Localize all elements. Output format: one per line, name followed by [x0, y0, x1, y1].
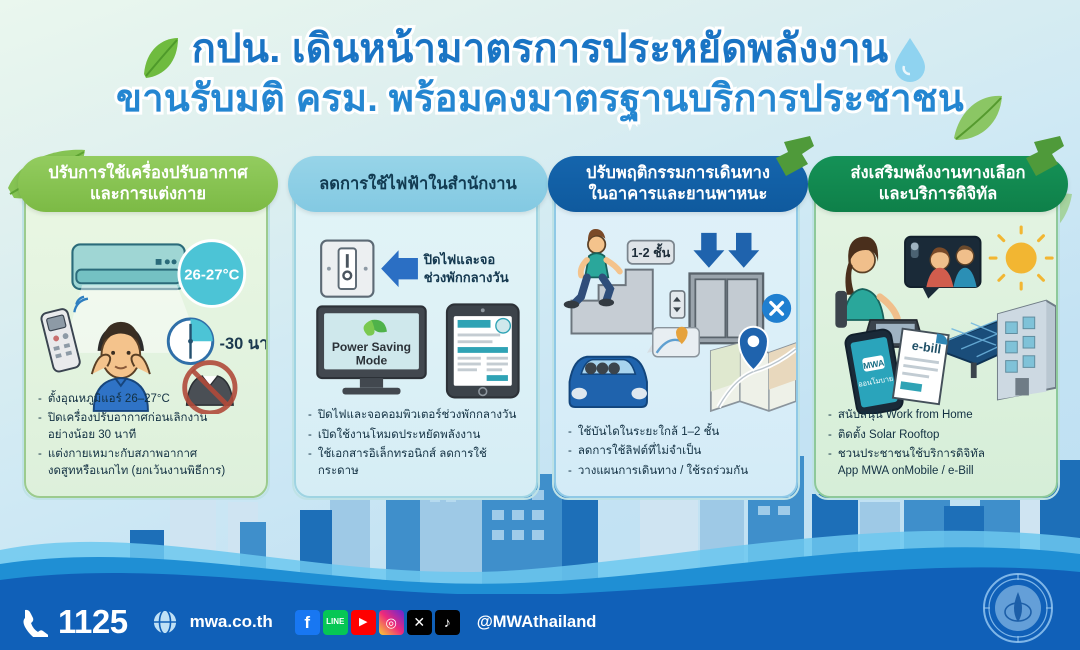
- air-conditioning-illustration: 26-27°C: [26, 224, 266, 414]
- card-heading: ปรับการใช้เครื่องปรับอากาศและการแต่งกาย: [18, 156, 278, 212]
- card-bullets: - สนับสนุน Work from Home - ติดตั้ง Sola…: [828, 407, 1046, 482]
- footer-bar: 1125 mwa.co.th f LINE ▶ ◎ ✕: [0, 594, 1080, 650]
- bullet-dash: -: [308, 407, 312, 424]
- bullet-text: ตั้งอุณหภูมิแอร์ 26–27°C: [48, 391, 256, 408]
- stairs-label-text: 1-2 ชั้น: [631, 243, 670, 260]
- bullet-text: ใช้บันไดในระยะใกล้ 1–2 ชั้น: [578, 424, 786, 441]
- alternative-energy-illustration: MWA ออนโมบาย e-bill: [816, 224, 1056, 414]
- bullet-text: ปิดเครื่องปรับอากาศก่อนเลิกงาน อย่างน้อย…: [48, 410, 256, 443]
- bullet-text: ชวนประชาชนใช้บริการดิจิทัล App MWA onMob…: [838, 446, 1046, 479]
- card-heading: ลดการใช้ไฟฟ้าในสำนักงาน: [288, 156, 548, 212]
- bullet-text: ติดตั้ง Solar Rooftop: [838, 427, 1046, 444]
- leaf-icon: [950, 92, 1006, 144]
- card-air-conditioning: 26-27°C: [22, 170, 270, 500]
- callout-line1: ปิดไฟและจอ: [423, 251, 495, 267]
- card-panel: MWA ออนโมบาย e-bill: [814, 172, 1058, 498]
- tiktok-icon[interactable]: ♪: [435, 610, 460, 635]
- water-drop-icon: [893, 36, 927, 82]
- bullet-dash: -: [568, 463, 572, 480]
- phone-number[interactable]: 1125: [58, 603, 128, 641]
- bullet-item: - ตั้งอุณหภูมิแอร์ 26–27°C: [38, 391, 256, 408]
- x-twitter-icon[interactable]: ✕: [407, 610, 432, 635]
- monitor-label-line1: Power Saving: [332, 340, 411, 354]
- card-heading-text: ปรับพฤติกรรมการเดินทางในอาคารและยานพาหนะ: [586, 163, 770, 205]
- bullet-text: เปิดใช้งานโหมดประหยัดพลังงาน: [318, 427, 526, 444]
- card-bullets: - ปิดไฟและจอคอมพิวเตอร์ช่วงพักกลางวัน - …: [308, 407, 526, 482]
- bullet-item: - ใช้เอกสารอิเล็กทรอนิกส์ ลดการใช้กระดาษ: [308, 446, 526, 479]
- bullet-dash: -: [38, 391, 42, 408]
- bullet-item: - วางแผนการเดินทาง / ใช้รถร่วมกัน: [568, 463, 786, 480]
- card-heading: ปรับพฤติกรรมการเดินทางในอาคารและยานพาหนะ: [548, 156, 808, 212]
- poster-title: กปน. เดินหน้ามาตรการประหยัดพลังงาน ขานรั…: [0, 26, 1080, 122]
- bullet-text: ลดการใช้ลิฟต์ที่ไม่จำเป็น: [578, 443, 786, 460]
- card-office-electricity: ปิดไฟและจอ ช่วงพักกลางวัน Power Saving M…: [292, 170, 540, 500]
- card-heading-text: ลดการใช้ไฟฟ้าในสำนักงาน: [319, 174, 517, 195]
- bullet-item: - ปิดเครื่องปรับอากาศก่อนเลิกงาน อย่างน้…: [38, 410, 256, 443]
- social-icons-group: f LINE ▶ ◎ ✕ ♪: [295, 610, 460, 635]
- travel-behavior-illustration: 1-2 ชั้น: [556, 224, 796, 414]
- bullet-item: - ติดตั้ง Solar Rooftop: [828, 427, 1046, 444]
- callout-line2: ช่วงพักกลางวัน: [424, 270, 509, 285]
- minutes-callout-text: -30 นาที: [220, 334, 266, 353]
- bullet-dash: -: [38, 410, 42, 443]
- instagram-icon[interactable]: ◎: [379, 610, 404, 635]
- globe-icon: [152, 609, 178, 635]
- bullet-item: - ชวนประชาชนใช้บริการดิจิทัล App MWA onM…: [828, 446, 1046, 479]
- card-travel-behavior: 1-2 ชั้น: [552, 170, 800, 500]
- card-panel: ปิดไฟและจอ ช่วงพักกลางวัน Power Saving M…: [294, 172, 538, 498]
- card-panel: 1-2 ชั้น: [554, 172, 798, 498]
- facebook-icon[interactable]: f: [295, 610, 320, 635]
- office-electricity-illustration: ปิดไฟและจอ ช่วงพักกลางวัน Power Saving M…: [296, 224, 536, 414]
- card-panel: 26-27°C: [24, 172, 268, 498]
- bullet-text: แต่งกายเหมาะกับสภาพอากาศ งดสูทหรือเนกไท …: [48, 446, 256, 479]
- water-wave-graphic: [0, 498, 1080, 608]
- infographic-poster: กปน. เดินหน้ามาตรการประหยัดพลังงาน ขานรั…: [0, 0, 1080, 650]
- mwa-seal-logo: [982, 572, 1054, 644]
- bullet-dash: -: [828, 407, 832, 424]
- bullet-text: ปิดไฟและจอคอมพิวเตอร์ช่วงพักกลางวัน: [318, 407, 526, 424]
- green-arrow-icon: [772, 134, 816, 180]
- bullet-item: - สนับสนุน Work from Home: [828, 407, 1046, 424]
- bullet-text: วางแผนการเดินทาง / ใช้รถร่วมกัน: [578, 463, 786, 480]
- website-link[interactable]: mwa.co.th: [190, 612, 273, 632]
- youtube-icon[interactable]: ▶: [351, 610, 376, 635]
- bullet-dash: -: [568, 424, 572, 441]
- monitor-label-line2: Mode: [356, 353, 388, 367]
- bullet-item: - ปิดไฟและจอคอมพิวเตอร์ช่วงพักกลางวัน: [308, 407, 526, 424]
- card-bullets: - ใช้บันไดในระยะใกล้ 1–2 ชั้น - ลดการใช้…: [568, 424, 786, 483]
- bullet-text: สนับสนุน Work from Home: [838, 407, 1046, 424]
- card-alternative-energy: MWA ออนโมบาย e-bill: [812, 170, 1060, 500]
- bullet-item: - เปิดใช้งานโหมดประหยัดพลังงาน: [308, 427, 526, 444]
- card-bullets: - ตั้งอุณหภูมิแอร์ 26–27°C - ปิดเครื่องป…: [38, 391, 256, 483]
- temperature-badge-text: 26-27°C: [184, 266, 239, 283]
- line-icon[interactable]: LINE: [323, 610, 348, 635]
- card-heading-text: ปรับการใช้เครื่องปรับอากาศและการแต่งกาย: [48, 163, 247, 205]
- leaf-icon: [138, 34, 182, 82]
- bullet-dash: -: [568, 443, 572, 460]
- bullet-item: - ลดการใช้ลิฟต์ที่ไม่จำเป็น: [568, 443, 786, 460]
- phone-icon: [18, 607, 48, 637]
- bullet-dash: -: [308, 446, 312, 479]
- bullet-item: - ใช้บันไดในระยะใกล้ 1–2 ชั้น: [568, 424, 786, 441]
- green-arrow-icon: [1022, 134, 1066, 180]
- bullet-dash: -: [308, 427, 312, 444]
- bullet-item: - แต่งกายเหมาะกับสภาพอากาศ งดสูทหรือเนกไ…: [38, 446, 256, 479]
- bullet-text: ใช้เอกสารอิเล็กทรอนิกส์ ลดการใช้กระดาษ: [318, 446, 526, 479]
- bullet-dash: -: [828, 427, 832, 444]
- social-handle: @MWAthailand: [477, 613, 597, 632]
- card-heading-text: ส่งเสริมพลังงานทางเลือกและบริการดิจิทัล: [850, 163, 1025, 205]
- title-line-2: ขานรับมติ ครม. พร้อมคงมาตรฐานบริการประชา…: [0, 76, 1080, 122]
- bullet-dash: -: [828, 446, 832, 479]
- bullet-dash: -: [38, 446, 42, 479]
